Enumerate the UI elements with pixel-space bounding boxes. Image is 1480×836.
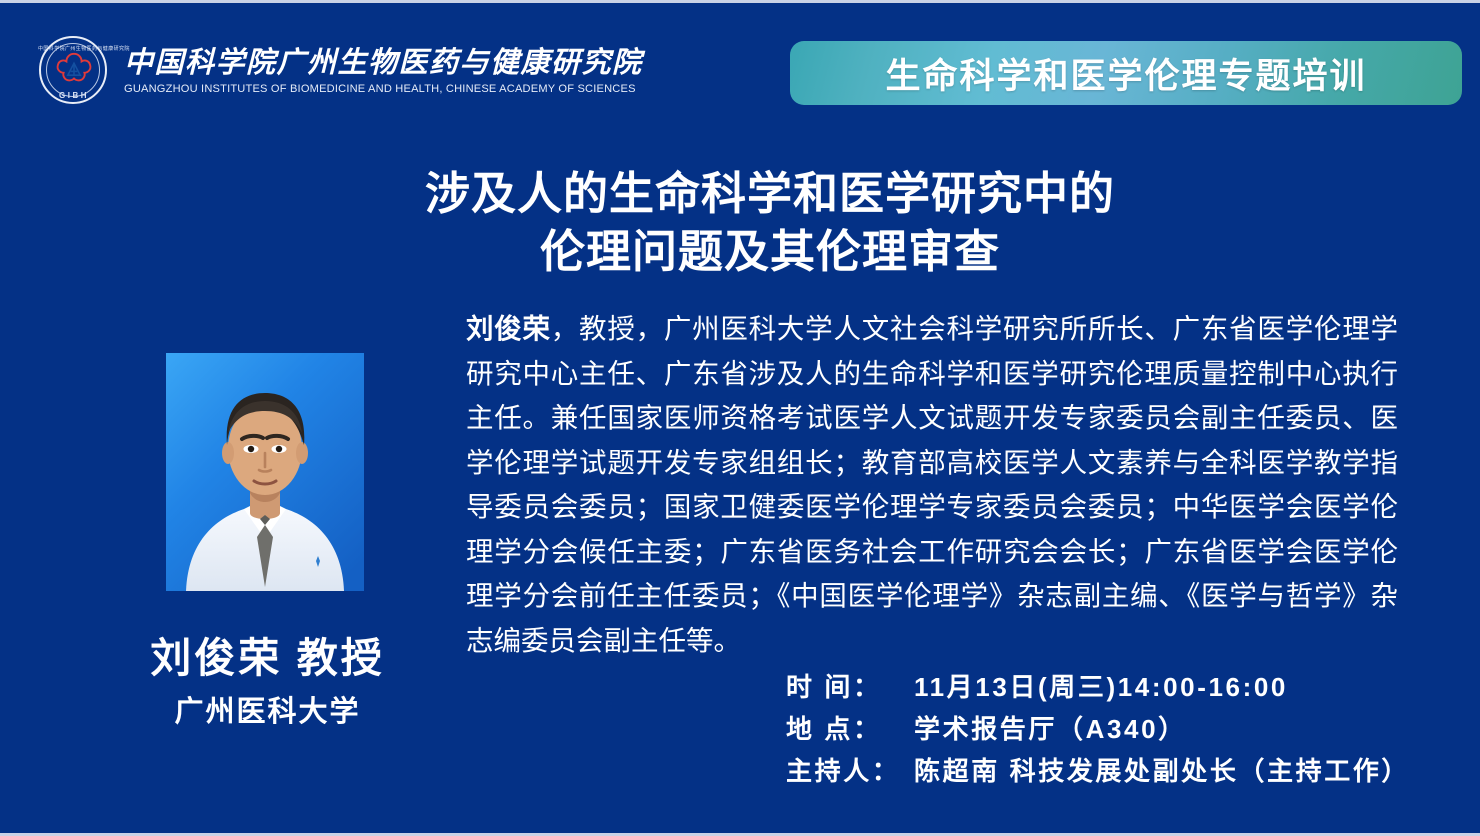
- seal-ring-bottom-text: GIBH: [38, 91, 110, 100]
- event-venue-label: 地 点：: [786, 708, 914, 750]
- speaker-identity: 刘俊荣 教授 广州医科大学: [60, 633, 475, 735]
- portrait-illustration: [166, 353, 364, 591]
- event-detail-row-venue: 地 点： 学术报告厅（A340）: [786, 708, 1476, 750]
- institute-name-en: GUANGZHOU INSTITUTES OF BIOMEDICINE AND …: [124, 83, 637, 95]
- event-time-label: 时 间：: [786, 666, 914, 708]
- biography-speaker-name: 刘俊荣: [466, 313, 551, 344]
- training-series-label: 生命科学和医学伦理专题培训: [885, 48, 1366, 99]
- seminar-poster: 中国科学院广州生物医药与健康研究院 GIBH 中国科学院广州生物医药与健康研究院…: [0, 0, 1480, 836]
- event-detail-row-host: 主持人： 陈超南 科技发展处副处长（主持工作）: [786, 750, 1476, 792]
- gibh-institute-seal-icon: 中国科学院广州生物医药与健康研究院 GIBH: [38, 35, 110, 107]
- training-series-banner: 生命科学和医学伦理专题培训: [790, 41, 1462, 105]
- event-venue-value: 学术报告厅（A340）: [914, 708, 1476, 750]
- biography-body: ，教授，广州医科大学人文社会科学研究所所长、广东省医学伦理学研究中心主任、广东省…: [466, 313, 1398, 656]
- lecture-title: 涉及人的生命科学和医学研究中的 伦理问题及其伦理审查: [300, 165, 1240, 281]
- speaker-name: 刘俊荣 教授: [60, 633, 475, 683]
- lecture-title-line-1: 涉及人的生命科学和医学研究中的: [300, 165, 1240, 223]
- institute-logo: 中国科学院广州生物医药与健康研究院 GIBH 中国科学院广州生物医药与健康研究院…: [38, 35, 643, 107]
- event-details: 时 间： 11月13日(周三)14:00-16:00 地 点： 学术报告厅（A3…: [786, 666, 1476, 792]
- poster-header: 中国科学院广州生物医药与健康研究院 GIBH 中国科学院广州生物医药与健康研究院…: [0, 3, 1480, 135]
- seal-plum-blossom-icon: [55, 50, 93, 88]
- event-host-label: 主持人：: [786, 750, 914, 792]
- speaker-biography: 刘俊荣，教授，广州医科大学人文社会科学研究所所长、广东省医学伦理学研究中心主任、…: [466, 307, 1398, 663]
- speaker-portrait-photo: [166, 353, 364, 591]
- event-time-value: 11月13日(周三)14:00-16:00: [914, 666, 1476, 708]
- institute-name-cn: 中国科学院广州生物医药与健康研究院: [124, 47, 643, 79]
- event-host-value: 陈超南 科技发展处副处长（主持工作）: [914, 750, 1476, 792]
- event-detail-row-time: 时 间： 11月13日(周三)14:00-16:00: [786, 666, 1476, 708]
- lecture-title-line-2: 伦理问题及其伦理审查: [300, 223, 1240, 281]
- speaker-organization: 广州医科大学: [60, 689, 475, 735]
- institute-name-block: 中国科学院广州生物医药与健康研究院 GUANGZHOU INSTITUTES O…: [124, 47, 643, 95]
